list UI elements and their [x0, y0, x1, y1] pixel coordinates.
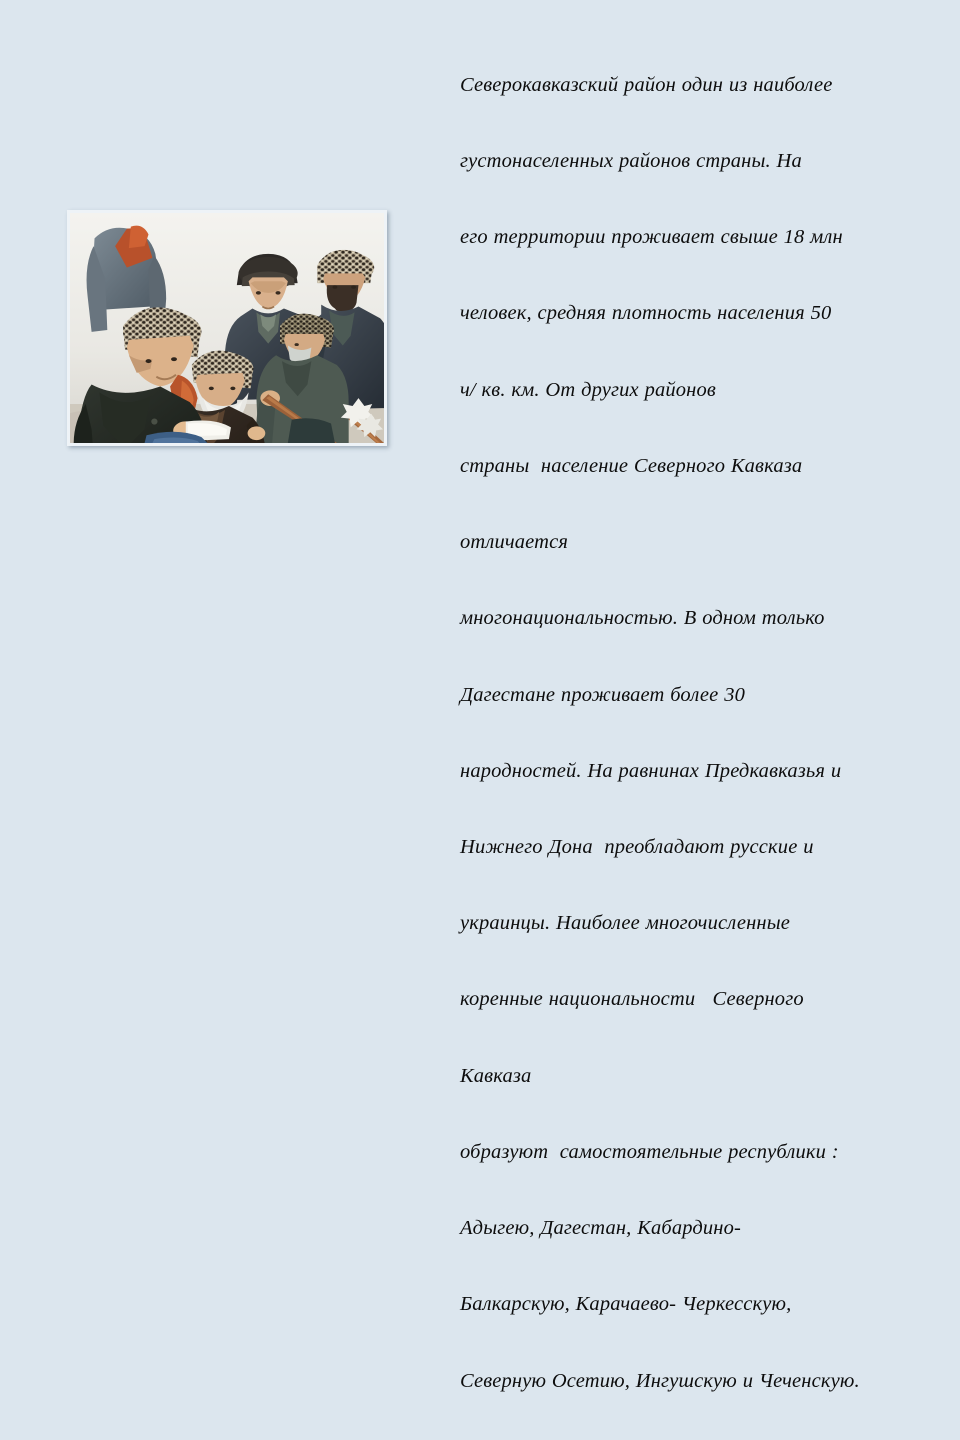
text-line: Адыгею, Дагестан, Кабардино-: [460, 1216, 948, 1241]
text-line: Северную Осетию, Ингушскую и Чеченскую.: [460, 1369, 948, 1394]
slide-body-text: Северокавказский район один из наиболее …: [460, 22, 948, 1440]
text-line: ч/ кв. км. От других районов: [460, 378, 948, 403]
text-line: коренные национальности Северного: [460, 987, 948, 1012]
text-line: Кавказа: [460, 1064, 948, 1089]
slide-canvas: Северокавказский район один из наиболее …: [0, 0, 960, 720]
text-line: украинцы. Наиболее многочисленные: [460, 911, 948, 936]
text-line: народностей. На равнинах Предкавказья и: [460, 759, 948, 784]
text-line: образуют самостоятельные республики :: [460, 1140, 948, 1165]
photo-frame: [67, 210, 387, 446]
text-line: его территории проживает свыше 18 млн: [460, 225, 948, 250]
text-line: густонаселенных районов страны. На: [460, 149, 948, 174]
text-line: Балкарскую, Карачаево- Черкесскую,: [460, 1292, 948, 1317]
text-line: человек, средняя плотность населения 50: [460, 301, 948, 326]
text-line: Нижнего Дона преобладают русские и: [460, 835, 948, 860]
photo-elderly-caucasus-men: [70, 213, 384, 443]
text-line: страны население Северного Кавказа: [460, 454, 948, 479]
text-line: Северокавказский район один из наиболее: [460, 73, 948, 98]
text-line: отличается: [460, 530, 948, 555]
text-line: Дагестане проживает более 30: [460, 683, 948, 708]
text-line: многонациональностью. В одном только: [460, 606, 948, 631]
